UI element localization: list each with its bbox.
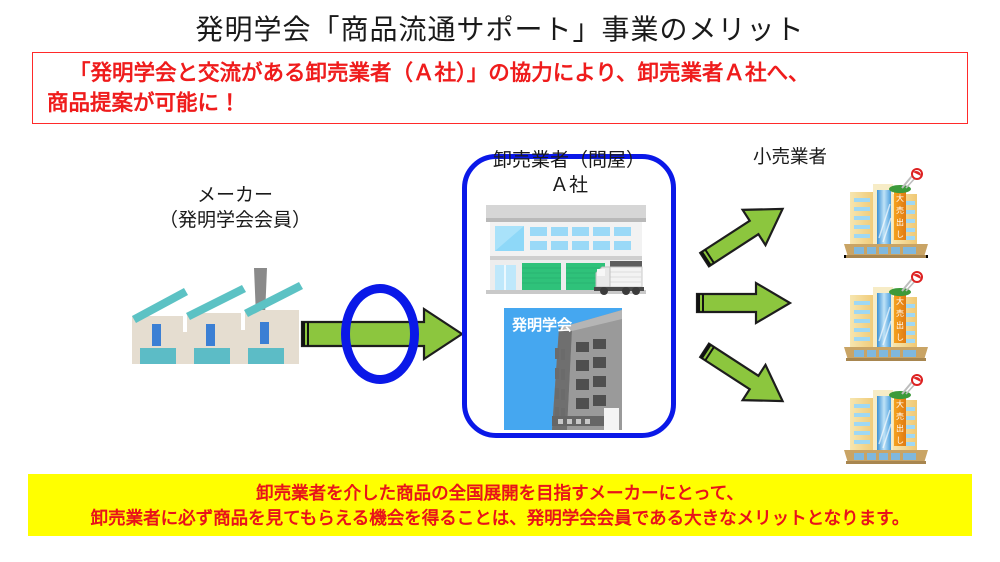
svg-text:出: 出	[896, 423, 904, 433]
green-arrow-up-right-icon	[694, 194, 794, 274]
factory-icon	[128, 268, 303, 368]
callout-box: 「発明学会と交流がある卸売業者（Ａ社）」の協力により、卸売業者Ａ社へ、 商品提案…	[32, 52, 968, 124]
slide-root: 発明学会「商品流通サポート」事業のメリット 「発明学会と交流がある卸売業者（Ａ社…	[0, 0, 1000, 562]
summary-banner-line-1: 卸売業者を介した商品の全国展開を目指すメーカーにとって、	[28, 480, 972, 505]
wholesaler-label-line-1: 卸売業者（問屋）	[462, 148, 676, 173]
wholesaler-label: 卸売業者（問屋） Ａ社	[462, 148, 676, 198]
green-arrow-right-icon	[694, 280, 794, 326]
retailer-label: 小売業者	[700, 144, 880, 169]
svg-text:出: 出	[896, 320, 904, 330]
svg-text:売: 売	[896, 411, 904, 421]
svg-text:し: し	[896, 333, 904, 342]
svg-text:し: し	[896, 230, 904, 239]
svg-text:大: 大	[896, 193, 904, 203]
retail-shop-1: 大 売 出 し 大売出し	[840, 168, 932, 258]
warehouse-with-truck-icon	[484, 203, 654, 298]
callout-line-2: 商品提案が可能に！	[47, 88, 241, 118]
maker-label: メーカー （発明学会会員）	[120, 183, 350, 233]
svg-text:大: 大	[896, 399, 904, 409]
maker-to-wholesaler-flow	[296, 282, 466, 387]
retail-shop-3: 大 売 出 し 大売出し	[840, 374, 932, 464]
wholesaler-label-line-2: Ａ社	[462, 173, 676, 198]
callout-line-1: 「発明学会と交流がある卸売業者（Ａ社）」の協力により、卸売業者Ａ社へ、	[47, 58, 809, 88]
maker-label-line-2: （発明学会会員）	[120, 208, 350, 233]
svg-text:出: 出	[896, 217, 904, 227]
green-arrow-down-right-icon	[694, 336, 794, 416]
summary-banner-line-2: 卸売業者に必ず商品を見てもらえる機会を得ることは、発明学会会員である大きなメリッ…	[28, 505, 972, 530]
svg-text:し: し	[896, 436, 904, 445]
page-title: 発明学会「商品流通サポート」事業のメリット	[0, 8, 1000, 48]
summary-banner: 卸売業者を介した商品の全国展開を目指すメーカーにとって、 卸売業者に必ず商品を見…	[28, 474, 972, 536]
maker-label-line-1: メーカー	[120, 183, 350, 208]
blue-circle-icon	[341, 284, 419, 384]
svg-text:売: 売	[896, 308, 904, 318]
retail-shop-2: 大 売 出 し 大売出し	[840, 271, 932, 361]
svg-text:大: 大	[896, 296, 904, 306]
photo-caption: 発明学会	[511, 316, 573, 334]
hatsumei-gakkai-building-photo: 発明学会 発明学会	[504, 308, 622, 430]
svg-text:売: 売	[896, 205, 904, 215]
